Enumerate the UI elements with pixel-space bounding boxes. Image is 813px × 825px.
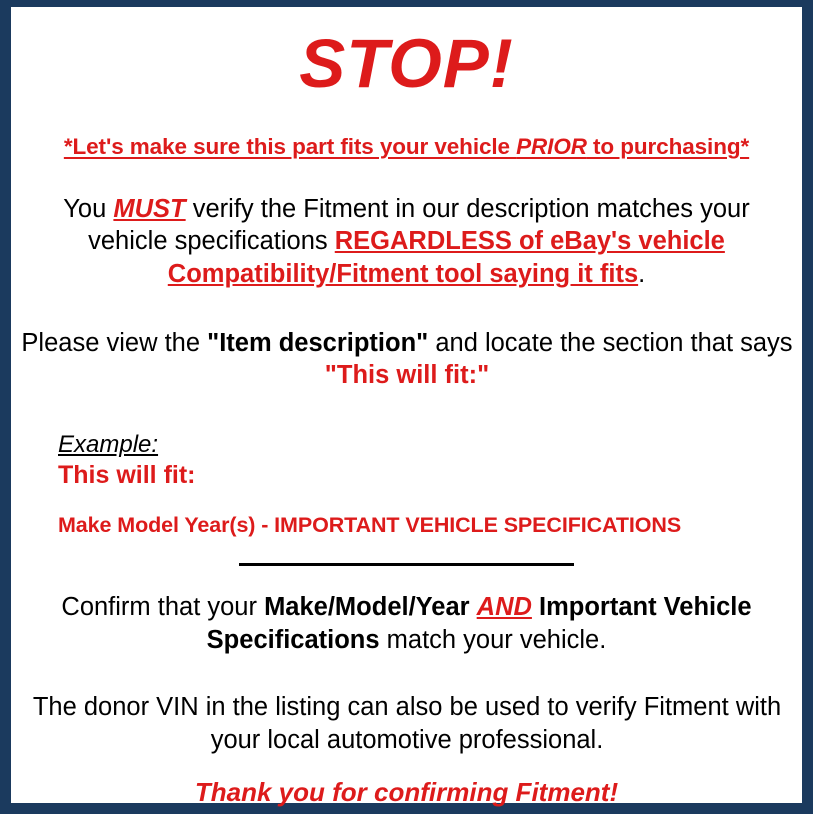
verify-emphasis-must: MUST	[113, 195, 185, 223]
tagline-text-after: to purchasing*	[587, 134, 749, 159]
view-emphasis-this-will-fit: "This will fit:"	[325, 361, 489, 389]
confirm-emphasis-make-model-year: Make/Model/Year	[264, 593, 470, 621]
confirm-emphasis-and: AND	[477, 593, 532, 621]
tagline-emphasis-prior: PRIOR	[516, 134, 587, 159]
view-text-1: Please view the	[21, 329, 207, 357]
view-emphasis-item-description: "Item description"	[207, 329, 428, 357]
divider-wrap	[17, 563, 796, 575]
tagline-banner: *Let's make sure this part fits your veh…	[17, 135, 796, 160]
thank-you-message: Thank you for confirming Fitment!	[17, 778, 796, 808]
view-text-2: and locate the section that says	[428, 329, 792, 357]
notice-content: STOP! *Let's make sure this part fits yo…	[11, 29, 802, 825]
confirm-text-4: match your vehicle.	[380, 626, 607, 654]
fitment-warning-notice: STOP! *Let's make sure this part fits yo…	[0, 0, 813, 814]
example-label: Example:	[58, 432, 796, 459]
confirm-text-1: Confirm that your	[61, 593, 264, 621]
paragraph-verify-fitment: You MUST verify the Fitment in our descr…	[26, 193, 788, 291]
example-this-will-fit-heading: This will fit:	[58, 461, 796, 490]
example-block: Example: This will fit: Make Model Year(…	[17, 432, 796, 537]
page-title: STOP!	[17, 29, 796, 98]
verify-text-1: You	[63, 195, 113, 223]
example-spec-line: Make Model Year(s) - IMPORTANT VEHICLE S…	[58, 514, 796, 538]
verify-text-3: .	[638, 260, 645, 288]
confirm-text-3	[532, 593, 539, 621]
paragraph-confirm-match: Confirm that your Make/Model/Year AND Im…	[27, 591, 787, 656]
paragraph-donor-vin: The donor VIN in the listing can also be…	[17, 691, 797, 756]
tagline-text-before: *Let's make sure this part fits your veh…	[64, 134, 516, 159]
paragraph-view-item-description: Please view the "Item description" and l…	[17, 327, 797, 392]
confirm-text-2	[470, 593, 477, 621]
section-divider	[239, 563, 574, 566]
